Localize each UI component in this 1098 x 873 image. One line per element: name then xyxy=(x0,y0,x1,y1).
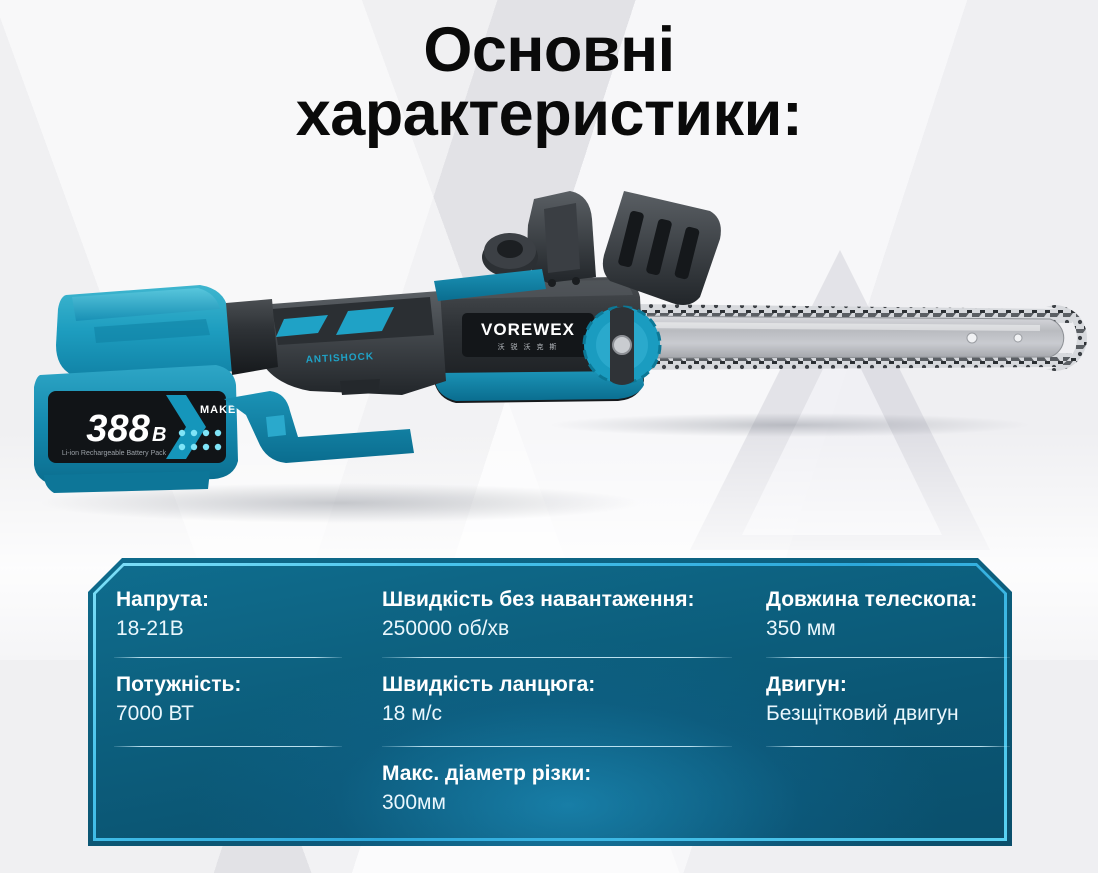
spec-label-max-cut-diameter: Макс. діаметр різки: xyxy=(382,760,760,788)
guard-tip xyxy=(266,415,286,437)
infographic-page: Основні характеристики: xyxy=(0,0,1098,873)
spec-item-max-cut-diameter: Макс. діаметр різки: 300мм xyxy=(382,760,760,818)
spec-value-telescope-length: 350 мм xyxy=(766,614,1038,644)
spec-label-power: Потужність: xyxy=(116,671,382,699)
spec-label-no-load-speed: Швидкість без навантаження: xyxy=(382,586,760,614)
spec-value-no-load-speed: 250000 об/хв xyxy=(382,614,760,644)
lower-guard-handle xyxy=(224,391,414,463)
spec-item-no-load-speed: Швидкість без навантаження: 250000 об/хв xyxy=(382,586,760,644)
spec-value-max-cut-diameter: 300мм xyxy=(382,788,760,818)
spec-value-power: 7000 ВТ xyxy=(116,699,382,729)
guide-bar-hole-1 xyxy=(967,333,977,343)
trigger xyxy=(340,379,380,395)
top-handle-inner xyxy=(544,203,580,273)
spec-divider-1 xyxy=(114,657,342,658)
page-title-line-1: Основні xyxy=(0,18,1098,82)
spec-value-voltage: 18-21В xyxy=(116,614,382,644)
spec-item-telescope-length: Довжина телескопа: 350 мм xyxy=(766,586,1038,644)
top-handle-bolt-2 xyxy=(572,277,580,285)
page-title-line-2: характеристики: xyxy=(0,82,1098,146)
battery-label-sub: Li-ion Rechargeable Battery Pack xyxy=(62,450,167,457)
specifications-panel: Напрута: 18-21В Потужність: 7000 ВТ Швид… xyxy=(88,558,1012,846)
spec-divider-4 xyxy=(382,746,732,747)
spec-column-2: Швидкість без навантаження: 250000 об/хв… xyxy=(382,586,760,846)
knob-center-screw xyxy=(613,336,631,354)
spec-value-motor: Безщітковий двигун xyxy=(766,699,1038,729)
spec-item-power: Потужність: 7000 ВТ xyxy=(114,671,382,729)
guide-bar-assembly xyxy=(622,304,1087,371)
product-shadow-bar xyxy=(550,413,1030,437)
cowl-link-black xyxy=(226,299,278,375)
spec-label-voltage: Напрута: xyxy=(116,586,382,614)
specifications-grid: Напрута: 18-21В Потужність: 7000 ВТ Швид… xyxy=(88,558,1012,846)
guide-bar-hole-2 xyxy=(1014,334,1022,342)
spec-column-3: Довжина телескопа: 350 мм Двигун: Безщіт… xyxy=(760,586,1038,846)
spec-divider-3 xyxy=(382,657,732,658)
product-image-chainsaw: VOREWEX 沃 锐 沃 克 斯 ANTISHOCK xyxy=(10,185,1090,525)
spec-divider-6 xyxy=(766,746,1010,747)
spec-item-chain-speed: Швидкість ланцюга: 18 м/с xyxy=(382,671,760,729)
spec-item-voltage: Напрута: 18-21В xyxy=(114,586,382,644)
brand-logo-sub: 沃 锐 沃 克 斯 xyxy=(498,342,559,351)
spec-label-chain-speed: Швидкість ланцюга: xyxy=(382,671,760,699)
spec-column-1: Напрута: 18-21В Потужність: 7000 ВТ xyxy=(114,586,382,846)
spec-item-motor: Двигун: Безщітковий двигун xyxy=(766,671,1038,729)
rear-handle-body: ANTISHOCK xyxy=(258,291,446,395)
spec-divider-2 xyxy=(114,746,342,747)
top-handle-bolt-1 xyxy=(548,279,556,287)
battery-voltage-unit: В xyxy=(152,424,166,446)
spec-value-chain-speed: 18 м/с xyxy=(382,699,760,729)
battery-pack: 388 В Li-ion Rechargeable Battery Pack M… xyxy=(34,365,268,493)
page-title: Основні характеристики: xyxy=(0,18,1098,147)
guide-bar xyxy=(622,316,1064,358)
spec-divider-5 xyxy=(766,657,1010,658)
spec-label-motor: Двигун: xyxy=(766,671,1038,699)
battery-voltage-text: 388 xyxy=(86,408,150,450)
spec-label-telescope-length: Довжина телескопа: xyxy=(766,586,1038,614)
brand-logo-text: VOREWEX xyxy=(481,320,575,339)
